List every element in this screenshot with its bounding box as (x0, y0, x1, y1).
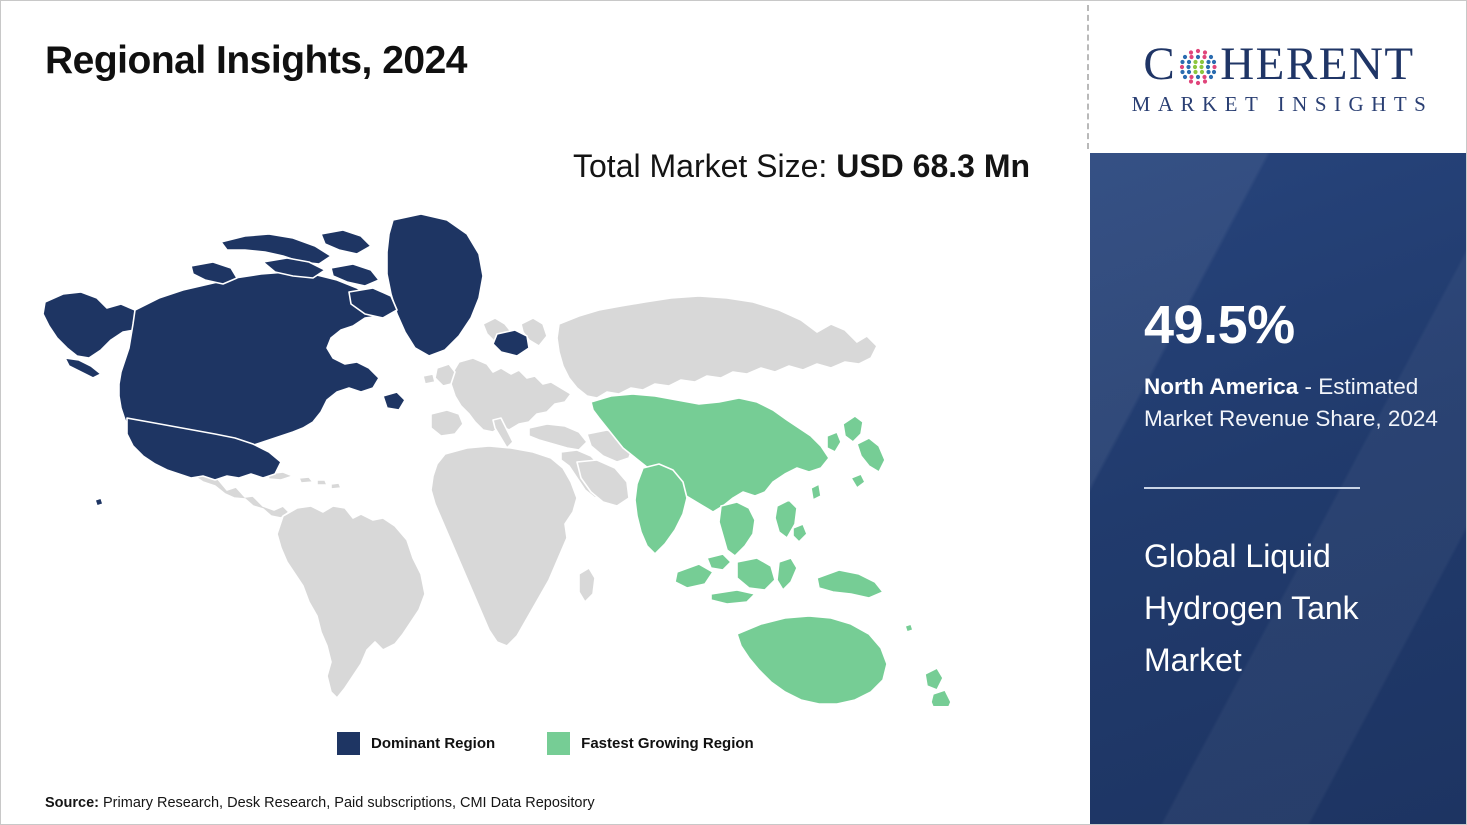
source-label: Source: (45, 795, 103, 811)
stat-description: North America - Estimated Market Revenue… (1144, 371, 1454, 435)
legend-label-fastest-growing: Fastest Growing Region (581, 735, 754, 752)
world-map (31, 206, 1031, 706)
source-text: Primary Research, Desk Research, Paid su… (103, 795, 595, 811)
logo-letters-herent: HERENT (1220, 41, 1414, 88)
source-note: Source: Primary Research, Desk Research,… (45, 795, 595, 811)
market-size-label: Total Market Size: (573, 148, 836, 184)
page-title: Regional Insights, 2024 (45, 39, 467, 83)
legend-label-dominant: Dominant Region (371, 735, 495, 752)
map-region-asia-pacific[interactable] (591, 394, 951, 706)
highlight-side-panel: 49.5% North America - Estimated Market R… (1090, 153, 1467, 825)
logo-subtitle: MARKET INSIGHTS (1125, 92, 1434, 117)
infographic-canvas: Regional Insights, 2024 Total Market Siz… (0, 0, 1467, 825)
vertical-dashed-divider (1087, 5, 1089, 149)
brand-logo: C (1090, 1, 1467, 153)
logo-letter-c: C (1143, 41, 1176, 88)
world-map-svg (31, 206, 1031, 706)
stat-divider-rule (1144, 487, 1360, 489)
legend-item-fastest-growing: Fastest Growing Region (547, 732, 754, 755)
total-market-size: Total Market Size: USD 68.3 Mn (573, 144, 1033, 188)
legend-swatch-navy (337, 732, 360, 755)
stat-value: 49.5% (1144, 298, 1295, 352)
map-legend: Dominant Region Fastest Growing Region (337, 732, 754, 755)
legend-item-dominant: Dominant Region (337, 732, 495, 755)
market-size-value: USD 68.3 Mn (836, 148, 1030, 184)
globe-dots-svg (1177, 46, 1219, 88)
market-name: Global Liquid Hydrogen Tank Market (1144, 531, 1444, 686)
globe-dots-icon (1177, 46, 1219, 88)
legend-swatch-green (547, 732, 570, 755)
logo-wordmark: C (1143, 41, 1414, 88)
stat-region-name: North America (1144, 374, 1298, 399)
left-content-pane: Regional Insights, 2024 Total Market Siz… (1, 1, 1087, 825)
